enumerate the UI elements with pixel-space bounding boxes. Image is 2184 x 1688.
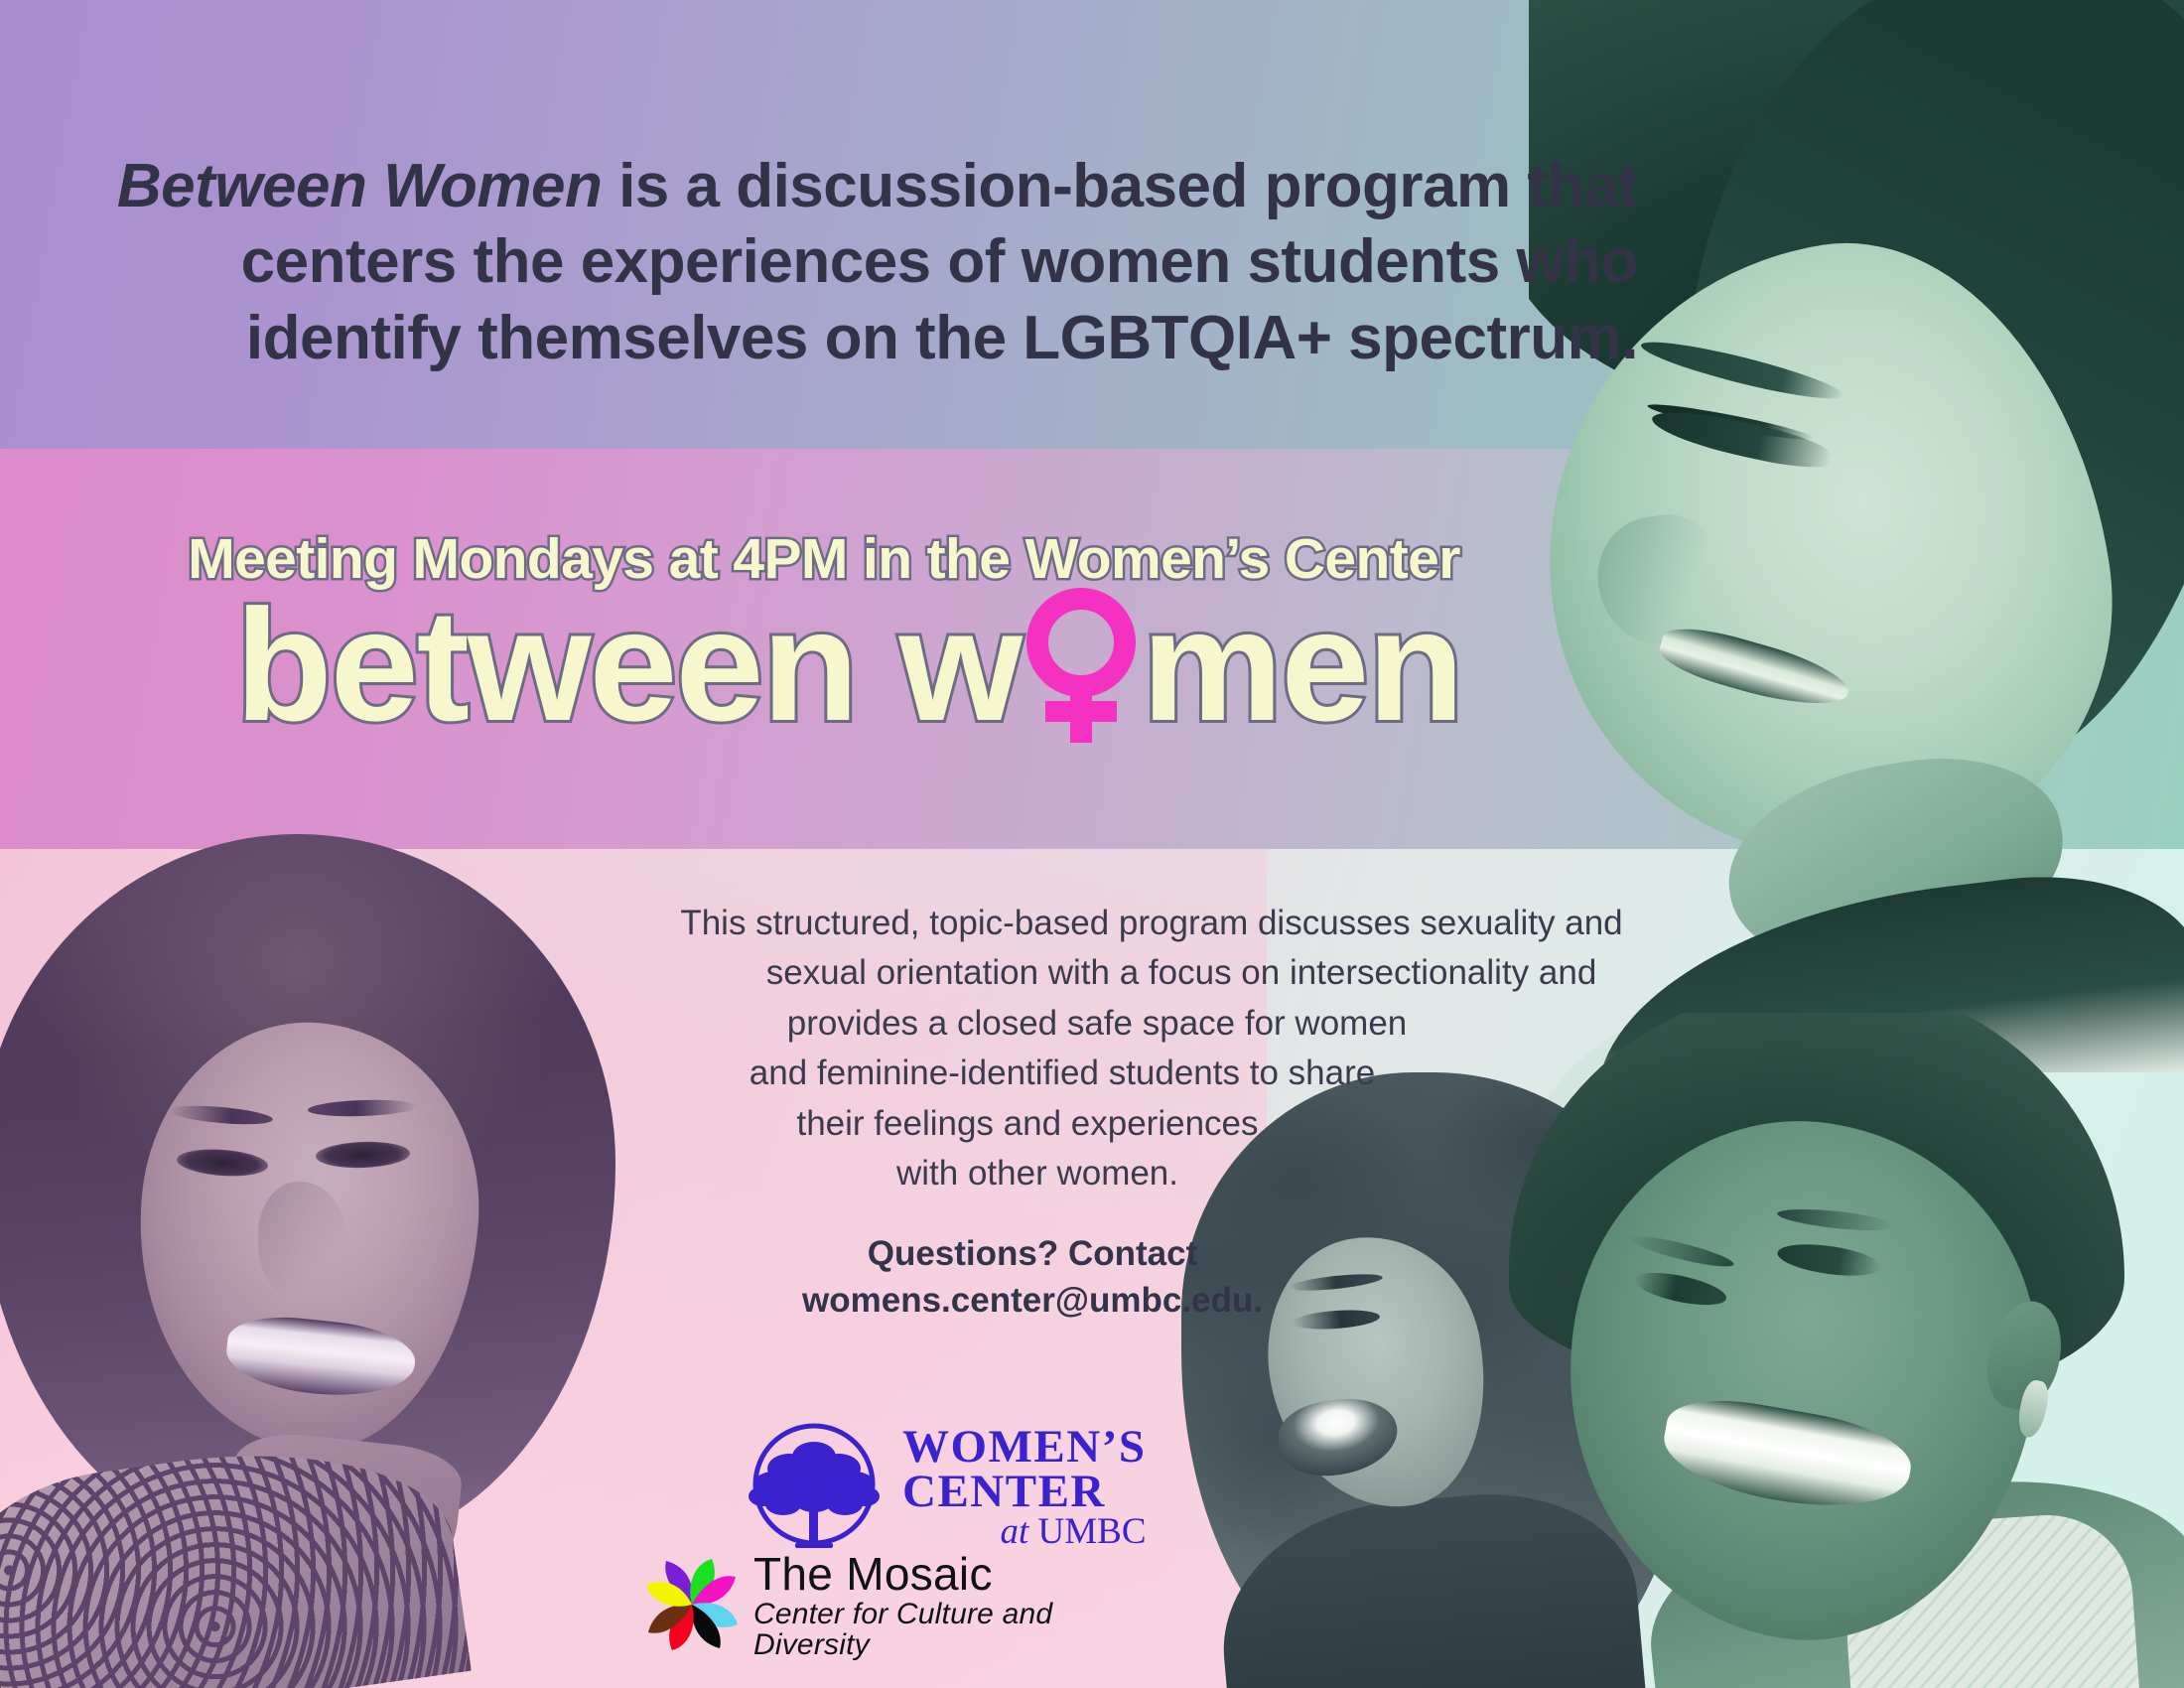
womens-center-logo: WOMEN’S CENTER at UMBC [740, 1408, 1166, 1567]
headline-line-3: identify themselves on the LGBTQIA+ spec… [0, 301, 1638, 376]
contact-prompt: Questions? Contact [615, 1231, 1449, 1278]
body-description: This structured, topic-based program dis… [596, 899, 1707, 1198]
mosaic-wordmark: The Mosaic Center for Culture and Divers… [753, 1551, 1157, 1660]
body-line-3: provides a closed safe space for women [596, 999, 1707, 1049]
headline-line-2: centers the experiences of women student… [0, 224, 1638, 300]
mosaic-line-1: The Mosaic [753, 1551, 1157, 1598]
mosaic-line-2: Center for Culture and Diversity [753, 1600, 1157, 1660]
womens-center-line-3: at UMBC [902, 1515, 1147, 1550]
womens-center-wordmark: WOMEN’S CENTER at UMBC [902, 1425, 1147, 1549]
smiling-woman-portrait-photo [0, 834, 615, 1688]
mosaic-logo: The Mosaic Center for Culture and Divers… [640, 1551, 1157, 1670]
body-line-6: with other women. [596, 1149, 1707, 1198]
womens-center-org: UMBC [1038, 1511, 1147, 1552]
womens-center-line-2: CENTER [902, 1470, 1147, 1513]
headline: Between Women is a discussion-based prog… [0, 149, 1648, 376]
headline-line-1-rest: is a discussion-based program that [602, 152, 1638, 220]
contact-email[interactable]: womens.center@umbc.edu. [615, 1278, 1449, 1325]
poster: Between Women is a discussion-based prog… [0, 0, 2184, 1688]
body-line-5: their feelings and experiences [596, 1099, 1707, 1149]
body-line-1: This structured, topic-based program dis… [596, 899, 1707, 948]
womens-center-line-1: WOMEN’S [902, 1425, 1147, 1469]
body-line-4: and feminine-identified students to shar… [596, 1049, 1707, 1098]
wordmark-between-women: between wmen [40, 586, 1658, 745]
headline-line-1: Between Women is a discussion-based prog… [0, 149, 1638, 224]
body-line-2: sexual orientation with a focus on inter… [596, 948, 1707, 998]
contact-info: Questions? Contact womens.center@umbc.ed… [615, 1231, 1449, 1325]
headline-emphasis: Between Women [117, 152, 602, 220]
photo-nose-shape [258, 1182, 347, 1301]
wordmark-part-2: men [1142, 586, 1462, 745]
womens-center-at: at [1000, 1511, 1028, 1552]
venus-symbol-icon [1023, 586, 1140, 745]
wordmark-part-1: between w [235, 586, 1021, 745]
pinwheel-icon [640, 1553, 744, 1656]
tree-in-circle-icon [740, 1413, 888, 1562]
